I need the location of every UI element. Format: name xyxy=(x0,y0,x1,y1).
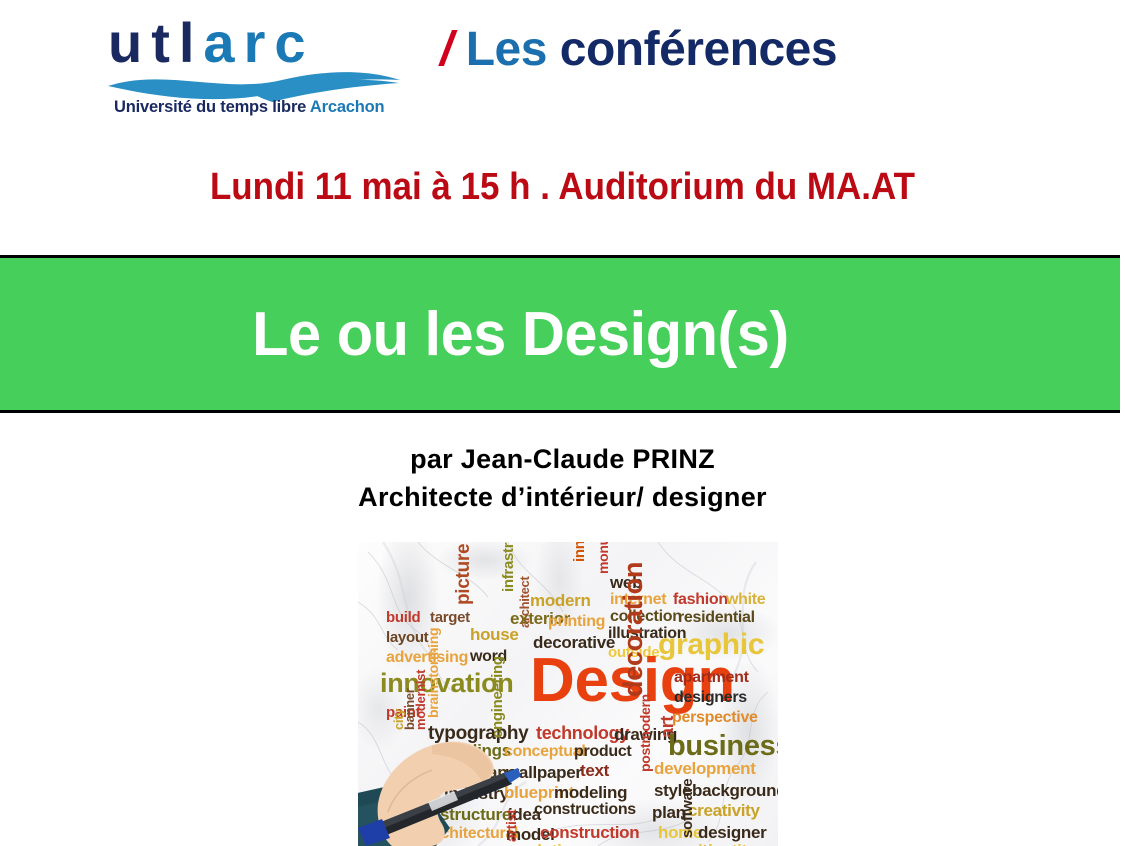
hand-with-pen-illustration xyxy=(358,716,588,846)
wordcloud-word: white xyxy=(726,592,765,608)
wordcloud-word: modern xyxy=(530,592,591,609)
header-title-slash: / xyxy=(440,23,453,76)
logo-tagline: Université du temps libre Arcachon xyxy=(114,98,384,117)
wordcloud-word: background xyxy=(692,782,778,799)
wordcloud-word: creativity xyxy=(688,802,760,819)
wordcloud-word: designer xyxy=(698,824,766,841)
conference-title-banner: Le ou les Design(s) xyxy=(0,255,1120,413)
wordcloud-word: brainstorming xyxy=(426,628,440,718)
wordcloud-word: house xyxy=(470,626,519,643)
wordcloud-word: fashion xyxy=(673,592,728,608)
wordcloud-word: residential xyxy=(678,610,755,626)
wordcloud-word: perspective xyxy=(672,710,758,726)
wordcloud-word: software xyxy=(680,779,695,838)
wordcloud-word: decoration xyxy=(620,562,647,697)
wordcloud-word: innovate xyxy=(572,542,587,562)
page-header: utlarc Université du temps libre Arcacho… xyxy=(0,0,1125,140)
wordcloud-word: layout xyxy=(386,630,428,645)
speaker-name: par Jean-Claude PRINZ xyxy=(0,440,1125,478)
speaker-block: par Jean-Claude PRINZ Architecte d’intér… xyxy=(0,440,1125,516)
wordcloud-word: printing xyxy=(548,614,605,630)
utlarc-logo: utlarc Université du temps libre Arcacho… xyxy=(108,12,408,117)
wordcloud-word: picture xyxy=(454,544,473,605)
header-title-les: Les xyxy=(466,23,547,76)
wordcloud-word: infrastructure xyxy=(501,542,516,592)
wordcloud-word: business xyxy=(668,732,778,761)
speaker-role: Architecte d’intérieur/ designer xyxy=(0,478,1125,516)
conference-title: Le ou les Design(s) xyxy=(252,299,789,370)
wordcloud-word: identity xyxy=(698,842,756,846)
wordcloud-word: postmodern xyxy=(638,694,652,772)
wordcloud-word: build xyxy=(386,610,420,625)
wordcloud-word: apartment xyxy=(674,670,749,686)
logo-tagline-light: Arcachon xyxy=(306,98,384,116)
header-title: / Les conférences xyxy=(440,22,837,77)
event-date-location: Lundi 11 mai à 15 h . Auditorium du MA.A… xyxy=(45,166,1080,209)
wordcloud-image: buildtargetlayoutadvertisinginnovationpa… xyxy=(358,542,778,846)
logo-tagline-dark: Université du temps libre xyxy=(114,98,306,116)
wordcloud-word: development xyxy=(654,760,756,777)
wordcloud-word: monumental xyxy=(596,542,610,574)
wordcloud-word: target xyxy=(430,610,470,625)
wordcloud-word: designers xyxy=(674,690,747,706)
header-title-conferences: conférences xyxy=(547,23,837,76)
